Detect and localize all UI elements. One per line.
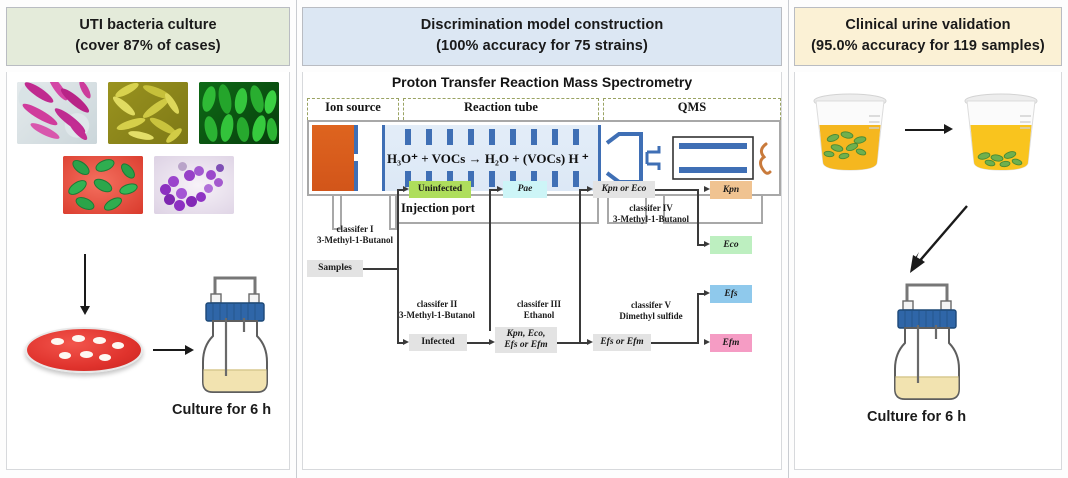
panel-left-body: Culture for 6 h	[6, 72, 290, 470]
flow-node-kpn-label: Kpn	[723, 185, 739, 196]
classifier-5-label: classifer V Dimethyl sulfide	[603, 300, 699, 323]
micrograph-purple-cocci	[154, 156, 234, 214]
right-cups-arrow-shaft	[905, 129, 947, 131]
flow-arrowhead	[489, 339, 495, 345]
flow-node-pae: Pae	[503, 181, 547, 198]
electrode-bar	[510, 129, 516, 145]
micrograph-green-rods	[199, 82, 279, 144]
electrode-bar	[552, 129, 558, 145]
flow-node-uninfected-label: Uninfected	[418, 184, 462, 195]
electrode-bar	[405, 129, 411, 145]
ptrms-title: Proton Transfer Reaction Mass Spectromet…	[303, 74, 781, 90]
ion-source-gap	[354, 154, 358, 161]
flow-node-kpn: Kpn	[710, 181, 752, 199]
flow-node-efs: Efs	[710, 285, 752, 303]
flow-node-efm: Efm	[710, 334, 752, 352]
electrode-bar	[489, 129, 495, 145]
flow-arrowhead	[497, 186, 503, 192]
right-cups-arrow-head	[944, 124, 953, 134]
classifier-1-name: classifer I	[336, 224, 373, 234]
flow-node-efm-label: Efm	[723, 338, 740, 349]
classifier-2-name: classifer II	[417, 299, 458, 309]
classifier-1-label: classifer I 3-Methyl-1-Butanol	[309, 224, 401, 247]
agar-plate	[25, 327, 143, 373]
flow-arrowhead	[704, 241, 710, 247]
electrode-bar	[573, 129, 579, 145]
flow-arrowhead	[403, 339, 409, 345]
urine-cup-after	[960, 92, 1042, 179]
micrograph-pink-rods	[17, 82, 97, 144]
flow-connector	[651, 342, 699, 344]
panel-right-body: Culture for 6 h	[794, 72, 1062, 470]
urine-cup-before	[809, 92, 891, 179]
flow-connector	[579, 189, 587, 191]
flow-arrowhead	[403, 186, 409, 192]
classifier-4-name: classifer IV	[629, 203, 673, 213]
left-caption: Culture for 6 h	[172, 402, 271, 418]
flow-connector	[489, 189, 491, 331]
right-caption: Culture for 6 h	[867, 409, 966, 425]
flow-node-group4: Kpn, Eco, Efs or Efm	[495, 327, 557, 353]
flow-arrowhead	[587, 339, 593, 345]
flow-node-samples-label: Samples	[318, 263, 352, 274]
classifier-3-name: classifer III	[517, 299, 561, 309]
qms-label: QMS	[603, 100, 781, 115]
flow-arrowhead	[587, 186, 593, 192]
reaction-tube-label: Reaction tube	[403, 100, 599, 115]
flow-node-efs-or-efm-label: Efs or Efm	[600, 337, 643, 348]
electrode-bar	[552, 171, 558, 187]
left-down-arrow-shaft	[84, 254, 86, 308]
classifier-5-marker: Dimethyl sulfide	[619, 311, 682, 321]
left-right-arrow-shaft	[153, 349, 187, 351]
panel-middle-header: Discrimination model construction (100% …	[302, 7, 782, 66]
classifier-4-label: classifer IV 3-Methyl-1-Butanol	[603, 203, 699, 226]
flow-node-infected-label: Infected	[421, 337, 454, 348]
reaction-tube-entrance-grid	[382, 125, 385, 191]
flow-connector	[655, 189, 699, 191]
flow-arrowhead	[704, 339, 710, 345]
culture-bottle-left	[193, 270, 285, 405]
flow-node-efs-label: Efs	[724, 289, 737, 300]
panel-left-header: UTI bacteria culture (cover 87% of cases…	[6, 7, 290, 66]
flow-node-group4-label: Kpn, Eco, Efs or Efm	[504, 329, 547, 351]
panel-uti-bacteria-culture: UTI bacteria culture (cover 87% of cases…	[0, 0, 296, 478]
reaction-equation: H₃O⁺ + VOCs → H₂O + (VOCs) H ⁺	[387, 151, 589, 167]
classifier-4-marker: 3-Methyl-1-Butanol	[613, 214, 689, 224]
electrode-bar	[531, 129, 537, 145]
classifier-3-label: classifer III Ethanol	[498, 299, 580, 322]
classifier-2-marker: 3-Methyl-1-Butanol	[399, 310, 475, 320]
flow-connector	[489, 189, 497, 191]
ion-source-block	[312, 125, 354, 191]
panel-right-header: Clinical urine validation (95.0% accurac…	[794, 7, 1062, 66]
flow-connector	[467, 342, 489, 344]
right-diagonal-arrow	[905, 202, 975, 277]
panel-middle-body: Proton Transfer Reaction Mass Spectromet…	[302, 72, 782, 470]
panel-discrimination-model: Discrimination model construction (100% …	[296, 0, 788, 478]
classifier-5-name: classifer V	[631, 300, 671, 310]
classifier-2-label: classifer II 3-Methyl-1-Butanol	[389, 299, 485, 322]
panel-left-title-line2: (cover 87% of cases)	[11, 36, 285, 57]
flow-connector	[557, 342, 587, 344]
flow-node-samples: Samples	[307, 260, 363, 277]
panel-middle-title-line1: Discrimination model construction	[307, 15, 777, 36]
flow-node-uninfected: Uninfected	[409, 181, 471, 198]
panel-right-title-line2: (95.0% accuracy for 119 samples)	[799, 36, 1057, 57]
injection-port-label: Injection port	[401, 201, 475, 216]
flow-arrowhead	[704, 186, 710, 192]
classifier-3-marker: Ethanol	[524, 310, 555, 320]
flow-node-efs-or-efm: Efs or Efm	[593, 334, 651, 351]
electrode-bar	[447, 129, 453, 145]
figure-root: UTI bacteria culture (cover 87% of cases…	[0, 0, 1068, 478]
flow-arrowhead	[704, 290, 710, 296]
flow-node-eco-label: Eco	[723, 240, 738, 251]
flow-node-pae-label: Pae	[518, 184, 533, 195]
micrograph-olive-rods	[108, 82, 188, 144]
electrode-bar	[573, 171, 579, 187]
ion-source-label: Ion source	[307, 100, 399, 115]
flow-node-eco: Eco	[710, 236, 752, 254]
flow-node-kpn-or-eco: Kpn or Eco	[593, 181, 655, 198]
panel-left-title-line1: UTI bacteria culture	[11, 15, 285, 36]
electrode-bar	[489, 171, 495, 187]
flow-node-infected: Infected	[409, 334, 467, 351]
panel-clinical-urine-validation: Clinical urine validation (95.0% accurac…	[788, 0, 1068, 478]
panel-middle-title-line2: (100% accuracy for 75 strains)	[307, 36, 777, 57]
panel-right-title-line1: Clinical urine validation	[799, 15, 1057, 36]
electrode-bar	[468, 129, 474, 145]
flow-node-kpn-or-eco-label: Kpn or Eco	[602, 184, 647, 195]
culture-bottle-right	[885, 277, 977, 412]
flow-connector	[363, 268, 397, 270]
left-down-arrow-head	[80, 306, 90, 315]
electrode-bar	[426, 129, 432, 145]
classifier-1-marker: 3-Methyl-1-Butanol	[317, 235, 393, 245]
micrograph-green-ovals-red-bg	[63, 156, 143, 214]
